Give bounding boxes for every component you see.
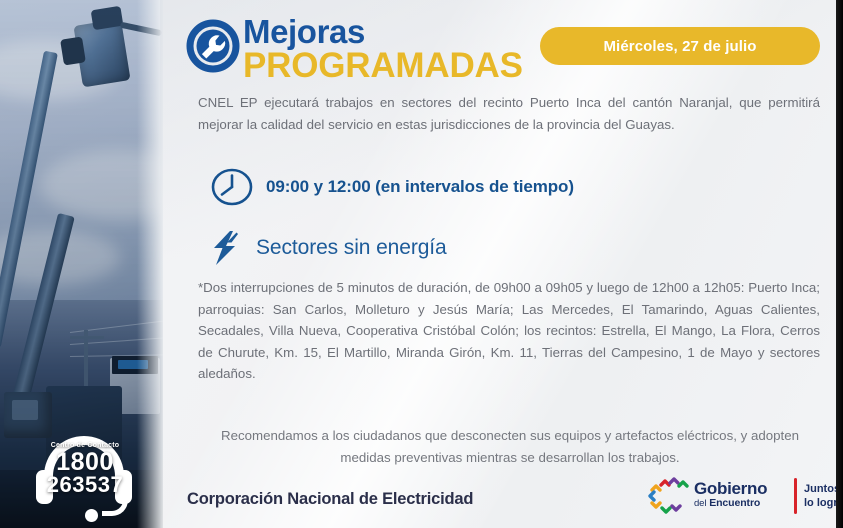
affected-sectors-paragraph: *Dos interrupciones de 5 minutos de dura… <box>198 277 820 385</box>
brand-line-mejoras: Mejoras <box>243 16 523 48</box>
announcement-poster: Centro de Contacto 1800 263537 Mejoras P… <box>0 0 843 528</box>
government-logo: Gobierno del Encuentro Juntos lo logramo… <box>646 474 836 522</box>
gov-line-gobierno: Gobierno <box>694 480 767 497</box>
intro-paragraph: CNEL EP ejecutará trabajos en sectores d… <box>198 92 820 135</box>
government-wordmark: Gobierno del Encuentro <box>694 480 767 510</box>
gov-word-encuentro: Encuentro <box>709 497 760 509</box>
photo-edge-fade <box>137 0 163 528</box>
sectors-heading-row: Sectores sin energía <box>205 228 447 268</box>
wrench-in-circle-icon <box>186 19 240 73</box>
schedule-row: 09:00 y 12:00 (en intervalos de tiempo) <box>210 167 574 207</box>
brand-title: Mejoras PROGRAMADAS <box>243 16 523 84</box>
sectors-heading: Sectores sin energía <box>256 236 447 260</box>
logo-divider <box>794 478 797 514</box>
date-badge: Miércoles, 27 de julio <box>540 27 820 65</box>
schedule-text: 09:00 y 12:00 (en intervalos de tiempo) <box>266 177 574 197</box>
gov-word-del: del <box>694 498 706 509</box>
recommendation-paragraph: Recomendamos a los ciudadanos que descon… <box>196 425 824 468</box>
gov-line-del-encuentro: del Encuentro <box>694 497 767 510</box>
bucket-truck-photo: Centro de Contacto 1800 263537 <box>0 0 163 528</box>
headset-mic-tip <box>85 509 98 522</box>
organization-name: Corporación Nacional de Electricidad <box>187 490 473 509</box>
chevron-burst-icon <box>646 476 692 520</box>
clock-icon <box>210 167 254 207</box>
right-edge-strip <box>836 0 843 528</box>
brand-line-programadas: PROGRAMADAS <box>243 49 523 83</box>
contact-center-badge: Centro de Contacto 1800 263537 <box>28 436 140 520</box>
headset-mic-arm <box>102 496 128 516</box>
lightning-bolt-icon <box>205 228 245 268</box>
contact-number-line2: 263537 <box>42 474 128 496</box>
